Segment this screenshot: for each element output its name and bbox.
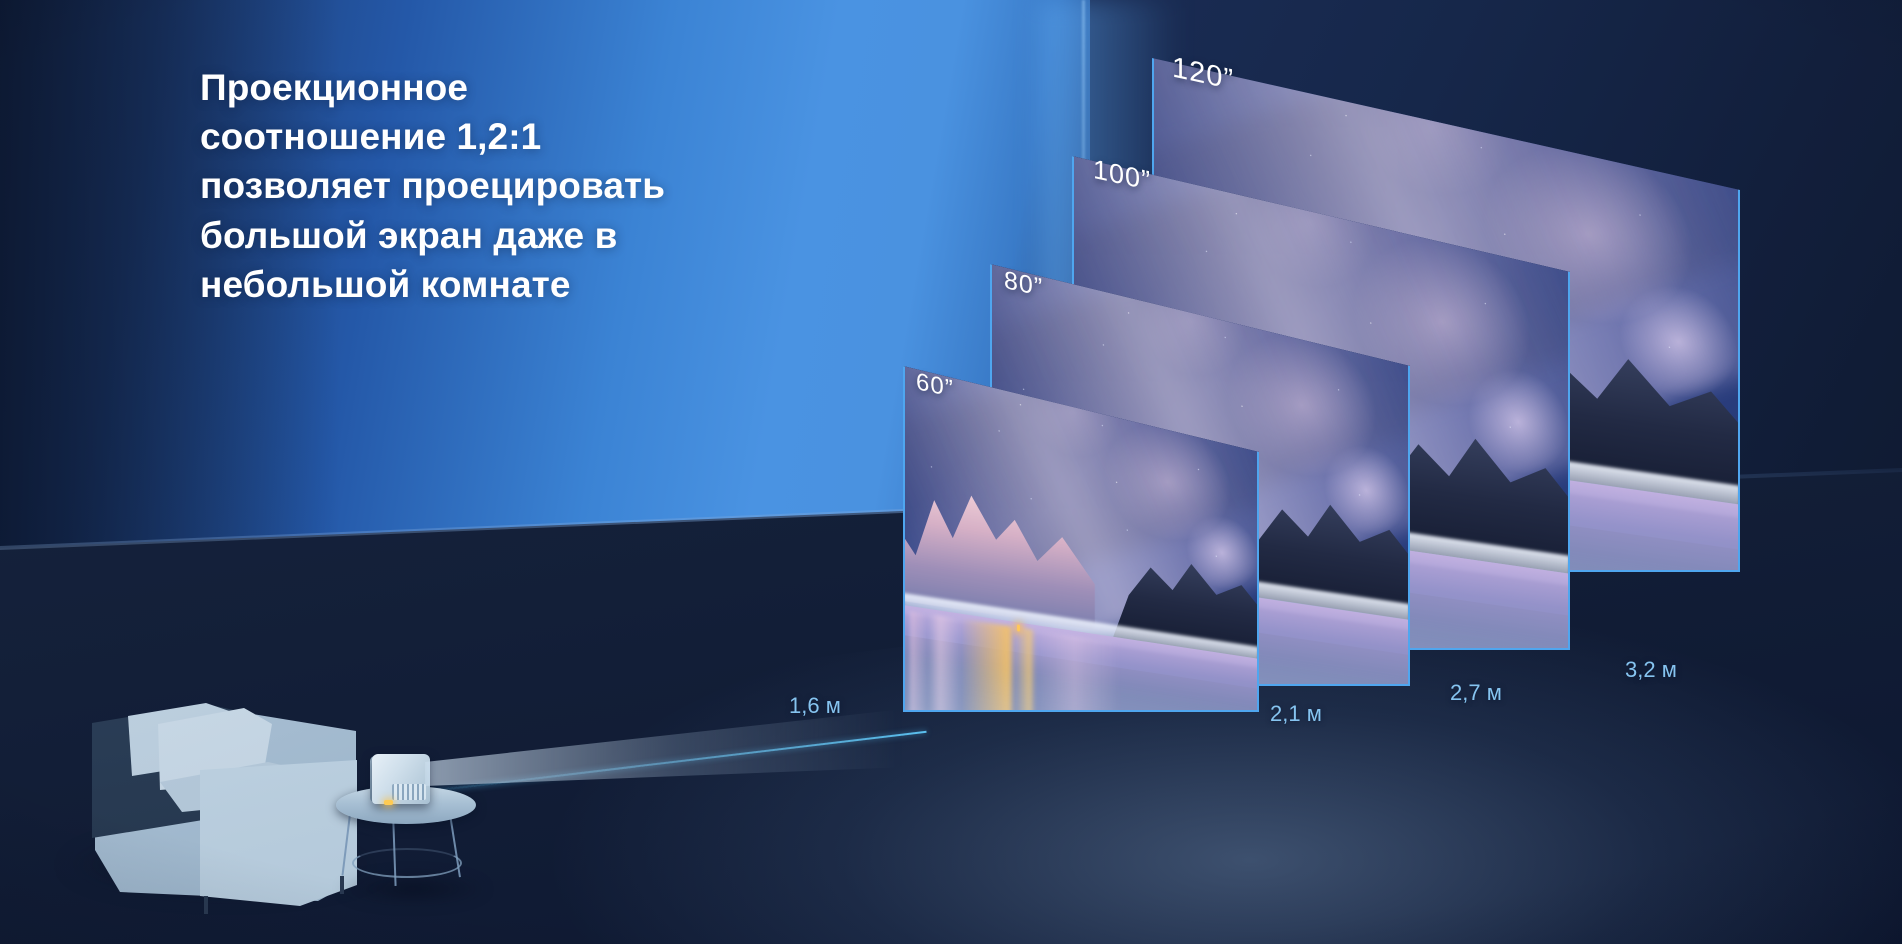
projection-ratio-infographic: Проекционное соотношение 1,2:1 позволяет…: [0, 0, 1902, 944]
projector-vent-grille: [392, 784, 426, 800]
armchair-leg: [204, 896, 208, 914]
page-title: Проекционное соотношение 1,2:1 позволяет…: [200, 63, 720, 309]
projector-power-led: [384, 800, 393, 805]
village-light: [1017, 624, 1020, 631]
headline-line-1: Проекционное: [200, 63, 720, 112]
distance-label-100: 2,7 м: [1450, 680, 1502, 706]
distance-label-60: 1,6 м: [789, 693, 841, 719]
distance-label-120: 3,2 м: [1625, 657, 1677, 683]
headline-line-5: небольшой комнате: [200, 260, 720, 309]
headline-line-3: позволяет проецировать: [200, 161, 720, 210]
side-table-base-ring: [352, 848, 462, 878]
distance-label-80: 2,1 м: [1270, 701, 1322, 727]
headline-line-2: соотношение 1,2:1: [200, 112, 720, 161]
headline-line-4: большой экран даже в: [200, 211, 720, 260]
